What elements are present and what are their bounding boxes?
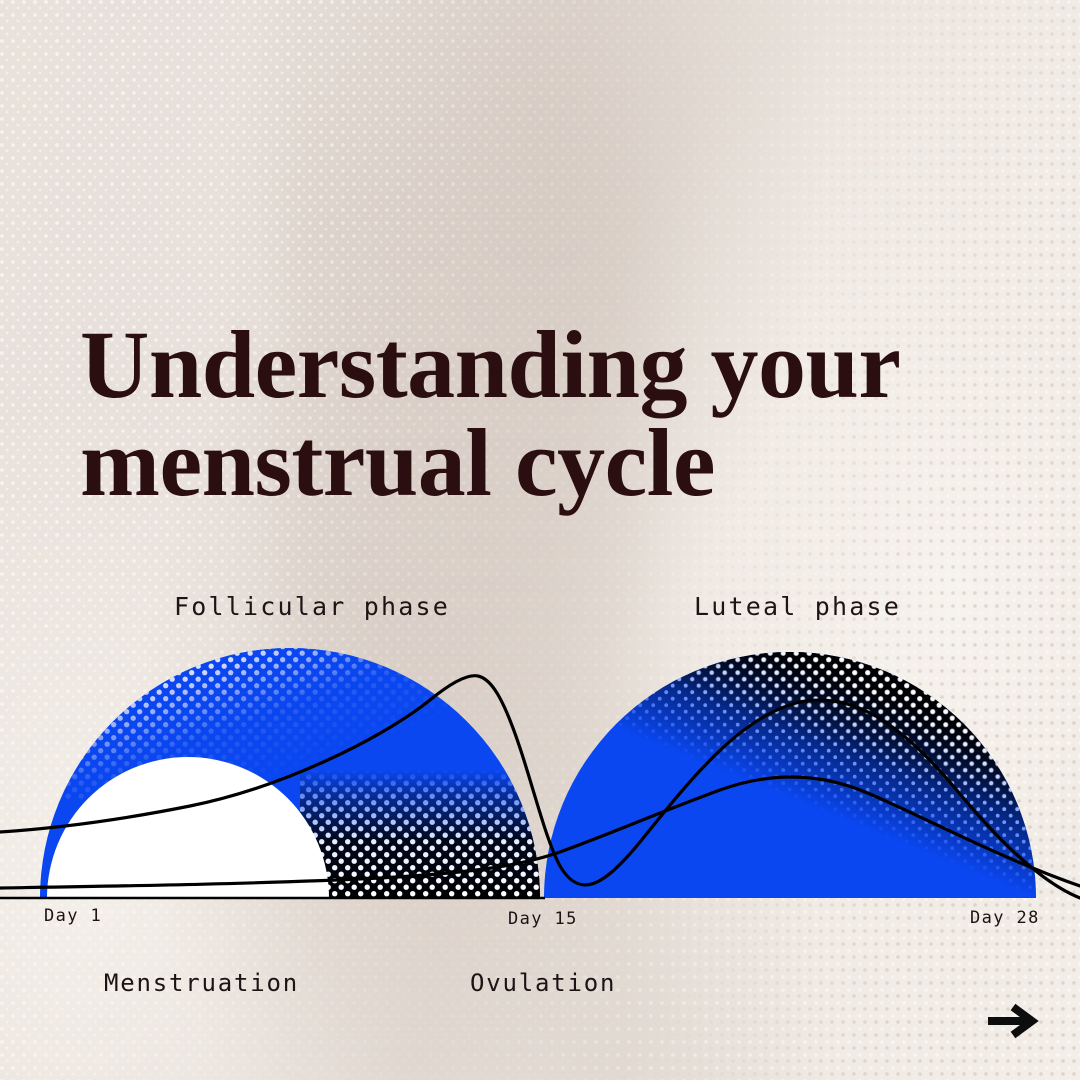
axis-tick-day-28: Day 28 [970, 908, 1040, 928]
stage-label-menstruation: Menstruation [104, 969, 299, 997]
phase-label-follicular: Follicular phase [174, 592, 450, 621]
follicular-phase-shape [0, 600, 600, 920]
axis-tick-day-15: Day 15 [508, 909, 578, 929]
slide-canvas: Understanding your menstrual cycle [0, 0, 1080, 1080]
stage-label-ovulation: Ovulation [470, 969, 616, 997]
axis-tick-day-1: Day 1 [44, 906, 102, 926]
luteal-phase-shape [544, 640, 1044, 900]
phase-label-luteal: Luteal phase [694, 592, 901, 621]
arrow-right-icon[interactable] [978, 992, 1044, 1050]
